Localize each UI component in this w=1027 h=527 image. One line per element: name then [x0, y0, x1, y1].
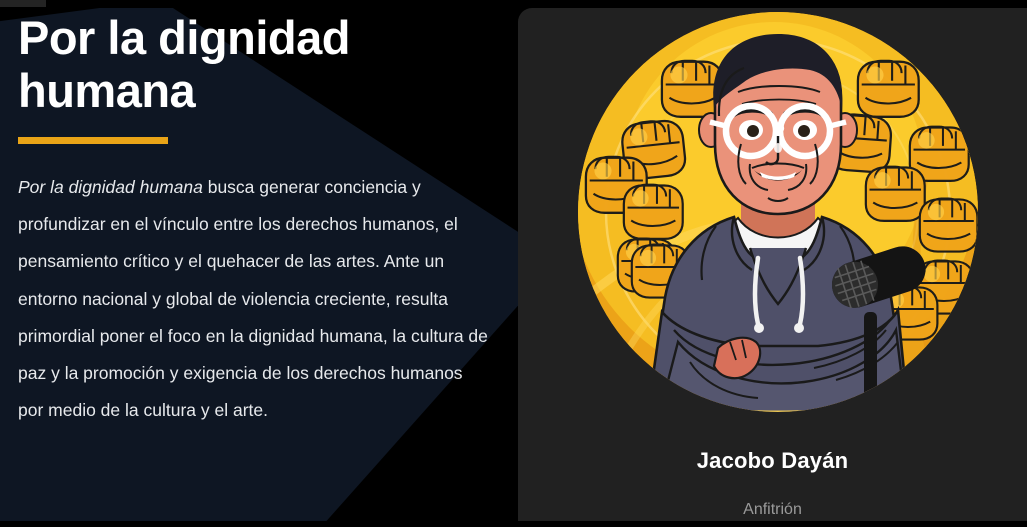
intro-paragraph: Por la dignidad humana busca generar con… [18, 169, 488, 429]
top-letterbox-strip [0, 0, 1027, 8]
intro-panel-content: Por la dignidad humana Por la dignidad h… [18, 12, 498, 429]
host-name: Jacobo Dayán [518, 448, 1027, 474]
top-left-marker [0, 0, 46, 7]
page-title: Por la dignidad humana [18, 12, 498, 117]
host-portrait-illustration [578, 12, 978, 412]
title-accent-bar [18, 137, 168, 144]
episode-hero-page: Por la dignidad humana Por la dignidad h… [0, 0, 1027, 527]
intro-paragraph-emphasis: Por la dignidad humana [18, 177, 203, 197]
avatar [578, 12, 978, 412]
intro-panel: Por la dignidad humana Por la dignidad h… [0, 0, 518, 527]
host-role: Anfitrión [518, 501, 1027, 519]
host-card[interactable]: Jacobo Dayán Anfitrión [518, 8, 1027, 521]
intro-paragraph-body: busca generar conciencia y profundizar e… [18, 177, 488, 420]
bottom-letterbox-strip [0, 521, 1027, 527]
